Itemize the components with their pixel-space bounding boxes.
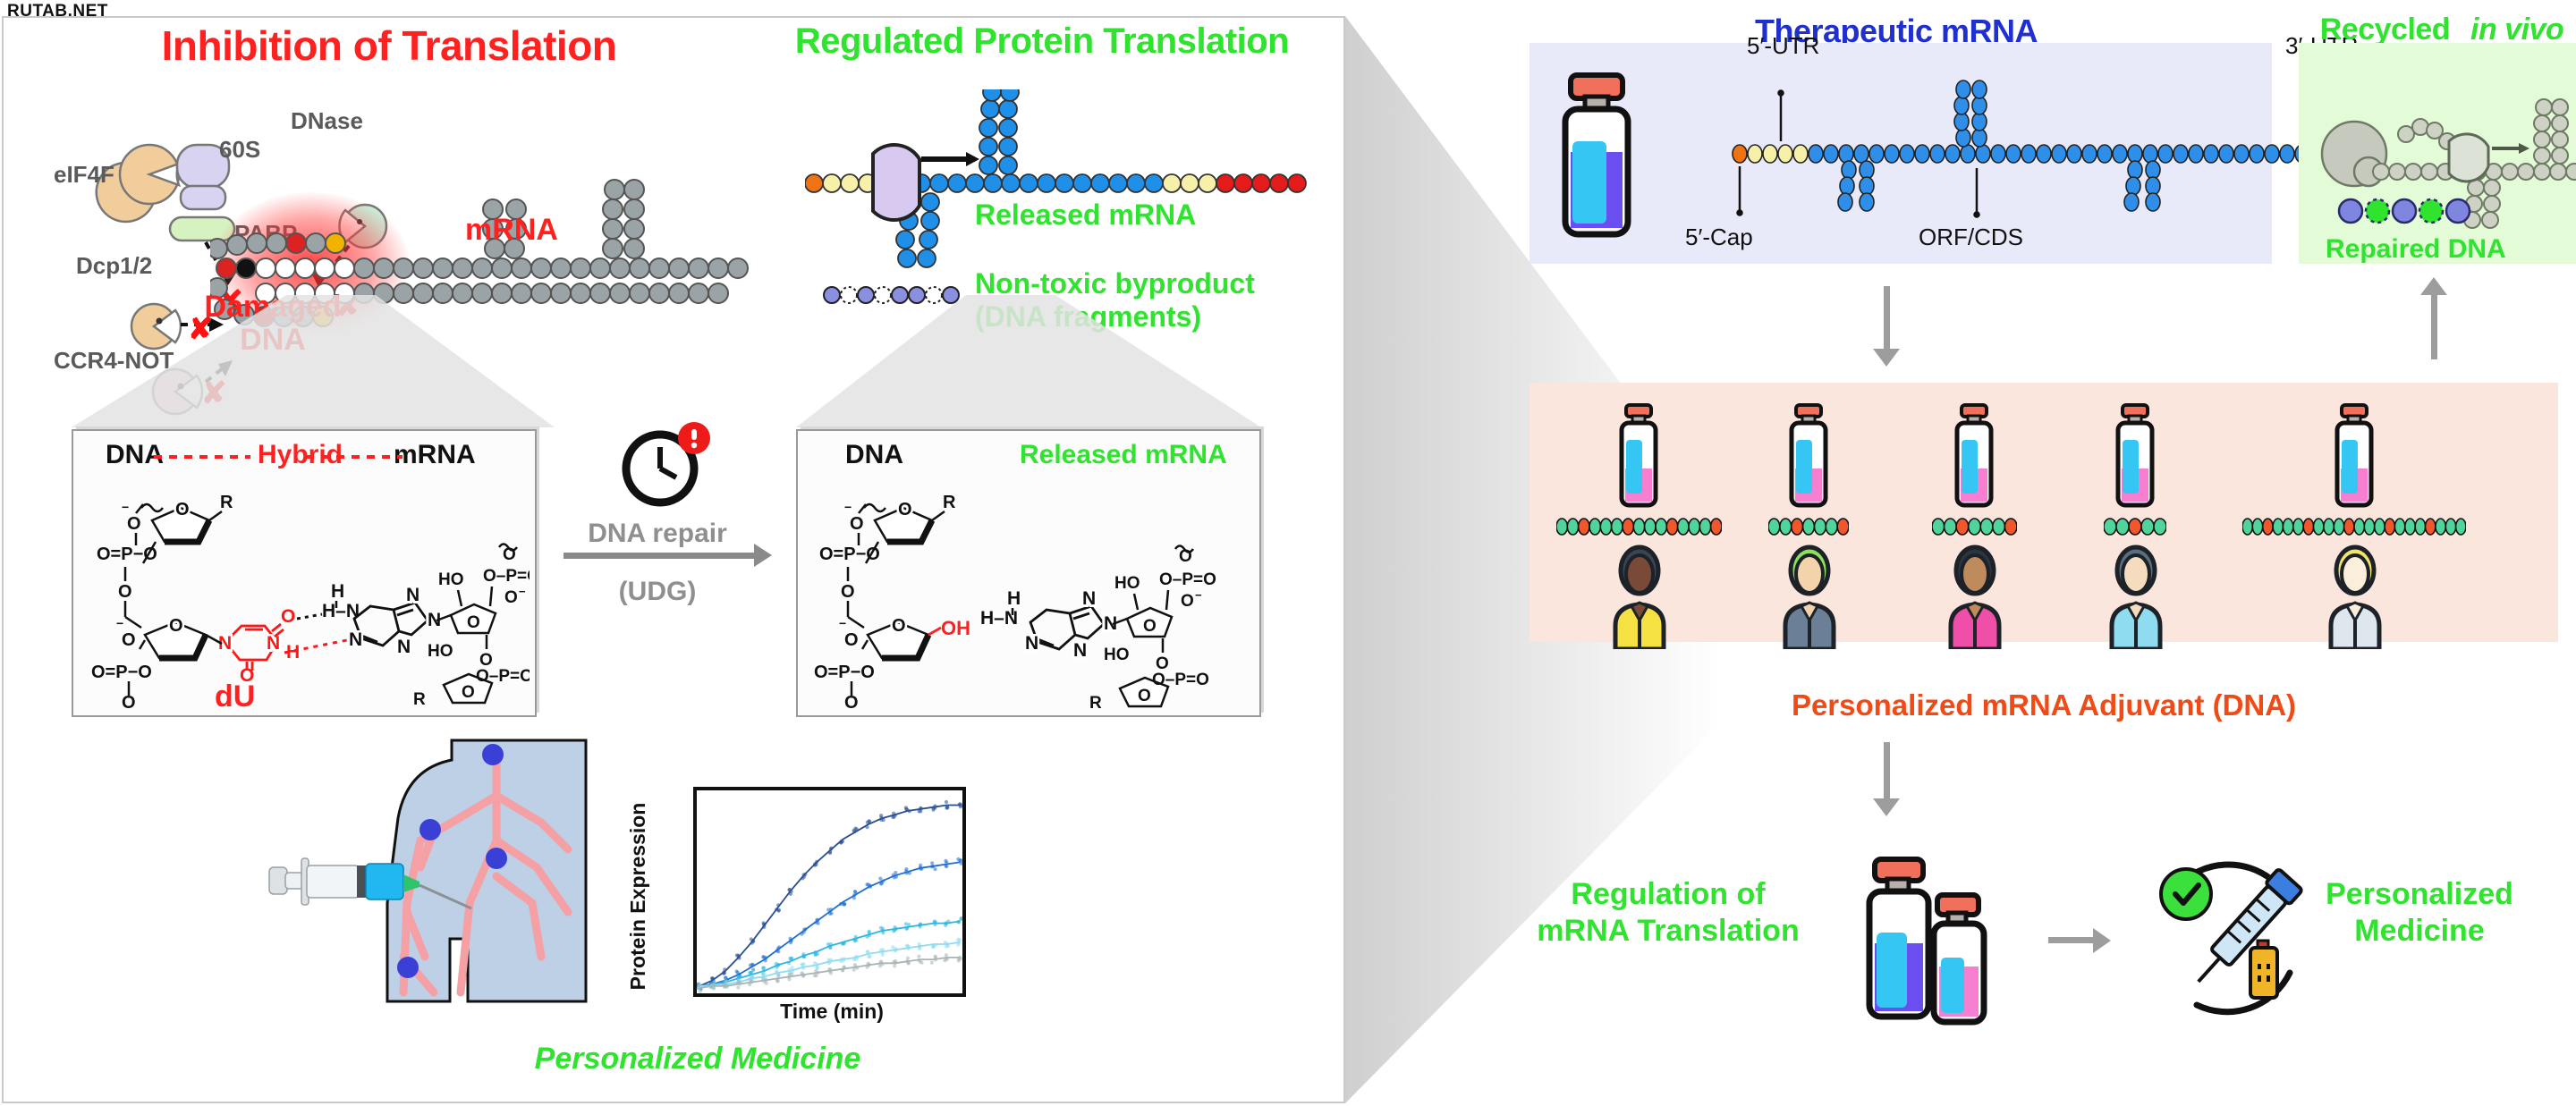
svg-text:O: O (841, 582, 855, 602)
svg-text:O: O (850, 514, 864, 534)
arrow-to-personalized-shaft (2048, 937, 2095, 943)
svg-text:−: − (519, 585, 526, 598)
chem-heading-released-mrna: Released mRNA (1020, 440, 1227, 470)
label-dcp12: Dcp1/2 (76, 252, 152, 280)
zoom-wedge-left (54, 295, 608, 429)
arrow-adjuvant-to-regulation-head (1873, 798, 1900, 816)
chem-heading-mrna: mRNA (394, 440, 476, 470)
svg-text:O: O (844, 693, 859, 712)
patient-avatar (1775, 544, 1844, 649)
svg-text:O: O (127, 514, 141, 534)
patient-dna-strip (1768, 517, 1849, 536)
svg-text:N: N (406, 585, 419, 605)
svg-text:O: O (175, 500, 190, 519)
svg-text:N: N (349, 629, 362, 650)
patient-vial-icon (2326, 402, 2383, 510)
patient-vial-icon (1945, 402, 2003, 510)
svg-text:H: H (1007, 588, 1021, 609)
protein-expression-chart (693, 787, 966, 997)
chem-heading-dna-right: DNA (845, 440, 903, 470)
label-dna-repair: DNA repair (537, 519, 778, 549)
chart-data-point (867, 955, 870, 958)
svg-text:HO: HO (1104, 646, 1130, 664)
chart-data-point (815, 966, 818, 969)
label-orf-cds: ORF/CDS (1919, 224, 2023, 251)
chart-data-point (853, 890, 857, 893)
chart-data-point (893, 964, 896, 967)
svg-text:−: − (122, 500, 129, 514)
label-dnase: DNase (291, 107, 363, 135)
chart-data-point (697, 984, 700, 987)
svg-text:O: O (892, 616, 906, 636)
svg-text:O: O (122, 693, 136, 712)
svg-text:O–P=O: O–P=O (476, 667, 530, 686)
chart-data-point (699, 989, 702, 992)
label-60s: 60S (219, 136, 260, 164)
svg-text:−: − (116, 616, 123, 630)
chart-data-point (881, 953, 885, 957)
svg-text:O: O (844, 630, 859, 650)
patient-avatar (2101, 544, 2171, 649)
chart-data-point (930, 861, 934, 865)
arrow-therapeutic-to-adjuvant-shaft (1884, 286, 1890, 350)
chart-data-point (761, 966, 765, 969)
chem-structure-hybrid: O O R O − O=P−O O O O O − O=P−O O N N N … (82, 474, 530, 712)
svg-text:O: O (504, 588, 518, 607)
svg-text:N: N (1025, 633, 1038, 654)
chart-data-point (930, 961, 934, 965)
patient-dna-strip (1932, 517, 2017, 536)
chart-data-point (712, 986, 716, 990)
pm-line2: Medicine (2354, 914, 2484, 948)
zoom-wedge-right (742, 295, 1315, 429)
chart-data-point (956, 938, 960, 941)
arrow-therapeutic-to-adjuvant-head (1873, 349, 1900, 367)
arrow-adjuvant-to-regulation-shaft (1884, 742, 1890, 800)
recycled-italic: in vivo (2470, 13, 2563, 46)
chem-structure-repaired: O O R O − O=P−O O O O O − O=P−O O OH H–N… (805, 474, 1252, 712)
svg-text:O: O (169, 616, 183, 636)
page-title-regulated: Regulated Protein Translation (756, 21, 1328, 62)
svg-text:N: N (397, 637, 411, 657)
label-eif4f: eIF4F (54, 161, 114, 189)
repair-arrow-shaft (563, 553, 756, 559)
arrow-adjuvant-to-recycled-head (2420, 277, 2447, 295)
chart-data-point (944, 859, 947, 863)
svg-text:−: − (844, 500, 852, 514)
chart-data-point (765, 982, 768, 985)
chart-data-point (776, 974, 780, 977)
svg-text:O–P=O: O–P=O (1152, 671, 1209, 689)
label-adjuvant-caption: Personalized mRNA Adjuvant (DNA) (1529, 688, 2558, 722)
arrow-to-personalized-head (2093, 928, 2111, 953)
svg-text:R: R (413, 690, 426, 709)
chart-data-point (815, 974, 818, 977)
svg-text:HO: HO (428, 642, 453, 661)
chart-data-point (761, 971, 765, 975)
repair-arrow-head (754, 544, 772, 567)
chart-data-point (906, 956, 910, 959)
svg-text:R: R (220, 493, 233, 512)
svg-text:O: O (462, 683, 475, 702)
vial-pair-icon (1860, 854, 2004, 1046)
patient-dna-strip (2242, 517, 2466, 536)
label-personalized-medicine-left: Personalized Medicine (429, 1042, 966, 1076)
svg-text:OH: OH (941, 617, 970, 639)
svg-text:O: O (118, 582, 132, 602)
svg-text:−: − (839, 616, 846, 630)
chart-data-point (904, 867, 908, 871)
chart-data-point (748, 978, 751, 982)
svg-text:−: − (1195, 588, 1202, 602)
label-du: dU (215, 680, 255, 714)
chart-data-point (943, 958, 946, 962)
chart-data-point (867, 819, 870, 823)
patient-avatar (1940, 544, 2010, 649)
svg-text:R: R (1089, 694, 1102, 712)
personalized-adjuvant-panel (1529, 383, 2558, 642)
chart-data-point (917, 955, 920, 958)
chart-data-point (724, 982, 727, 985)
chart-y-axis-label: Protein Expression (626, 791, 651, 1001)
chart-data-point (879, 926, 883, 930)
svg-text:N: N (267, 633, 280, 654)
label-released-mrna: Released mRNA (975, 198, 1196, 232)
patient-avatar (1605, 544, 1674, 649)
label-repaired-dna: Repaired DNA (2326, 234, 2506, 265)
svg-text:O: O (898, 500, 912, 519)
label-5utr: 5′-UTR (1747, 32, 1819, 60)
chart-data-point (945, 800, 948, 804)
svg-text:O: O (281, 606, 295, 627)
arrow-adjuvant-to-recycled-shaft (2431, 295, 2437, 359)
svg-text:H: H (331, 581, 344, 602)
chart-data-point (800, 963, 803, 967)
svg-text:O=P−O: O=P−O (814, 663, 875, 682)
chart-data-point (791, 966, 794, 969)
vaccine-vial-icon (1547, 70, 1646, 240)
chart-x-axis-label: Time (min) (689, 1000, 975, 1024)
svg-text:H: H (286, 642, 300, 663)
svg-text:O: O (1143, 617, 1157, 636)
recycled-plain: Recycled (2320, 13, 2450, 46)
svg-text:N: N (1082, 588, 1096, 609)
chart-data-point (736, 985, 740, 989)
svg-text:HO: HO (1114, 574, 1140, 593)
label-personalized-medicine-right: Personalized Medicine (2272, 876, 2567, 950)
chart-data-point (787, 977, 791, 981)
patient-dna-strip (1556, 517, 1722, 536)
patient-vial-icon (1610, 402, 1667, 510)
svg-text:O: O (1181, 592, 1194, 611)
svg-text:O: O (1138, 687, 1151, 705)
label-mrna: mRNA (465, 213, 558, 248)
page-title-inhibition: Inhibition of Translation (103, 21, 675, 70)
chart-data-point (852, 968, 856, 972)
reg-line1: Regulation of (1571, 877, 1765, 911)
svg-text:O: O (122, 630, 136, 650)
chart-data-point (918, 947, 921, 950)
chart-data-point (904, 922, 908, 925)
svg-text:HO: HO (438, 570, 464, 589)
clock-icon (617, 422, 716, 511)
recycled-schematic (2317, 72, 2576, 232)
svg-text:O: O (467, 613, 480, 632)
injection-illustration (228, 733, 622, 1046)
pm-line1: Personalized (2326, 877, 2513, 911)
svg-text:O=P−O: O=P−O (91, 663, 152, 682)
label-regulation-of-mrna-translation: Regulation of mRNA Translation (1521, 876, 1816, 950)
patient-vial-icon (1780, 402, 1837, 510)
chart-data-point (761, 955, 765, 958)
watermark: RUTAB.NET (7, 2, 108, 21)
label-5cap: 5′-Cap (1685, 224, 1753, 251)
svg-text:O–P=O: O–P=O (483, 567, 530, 586)
svg-text:N: N (1073, 640, 1087, 661)
hybrid-dotted-connector (154, 445, 404, 469)
chart-data-point (957, 958, 961, 962)
patient-avatar (2320, 544, 2390, 649)
reg-line2: mRNA Translation (1537, 914, 1799, 948)
chart-data-point (865, 882, 869, 886)
patient-vial-icon (2106, 402, 2164, 510)
chart-data-point (894, 871, 897, 874)
chart-data-point (945, 953, 948, 957)
chart-data-point (919, 961, 923, 965)
patient-dna-strip (2104, 517, 2166, 536)
svg-text:O–P=O: O–P=O (1159, 570, 1216, 589)
label-udg: (UDG) (537, 577, 778, 607)
released-mrna-strand (805, 89, 1315, 295)
svg-text:R: R (943, 493, 956, 512)
